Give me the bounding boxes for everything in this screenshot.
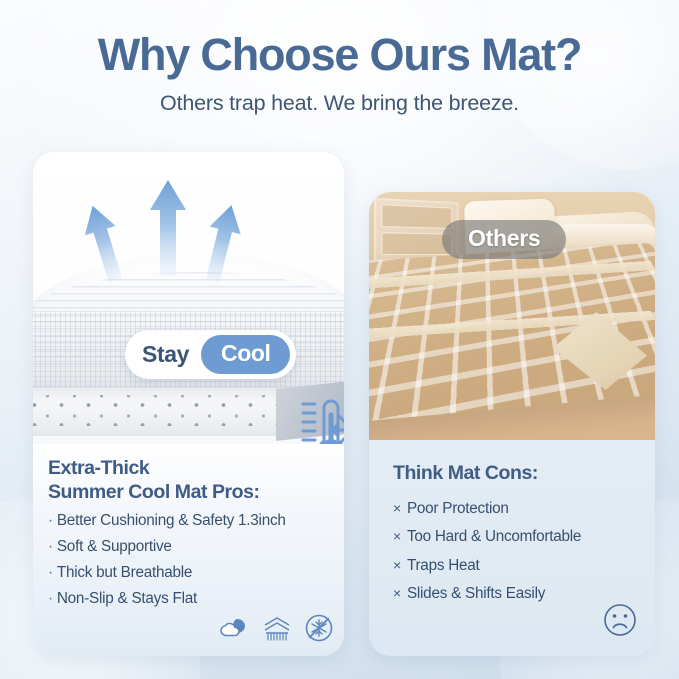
sad-face-icon [603, 603, 637, 642]
cons-heading: Think Mat Cons: [369, 440, 655, 485]
bullet-dot-icon: · [48, 512, 53, 529]
badge-word-cool: Cool [201, 335, 291, 374]
pros-heading: Extra-Thick Summer Cool Mat Pros: [33, 444, 344, 505]
comparison-infographic: Why Choose Ours Mat? Others trap heat. W… [0, 0, 679, 679]
list-item: ·Better Cushioning & Safety 1.3inch [48, 513, 344, 528]
cons-item-text: Traps Heat [407, 557, 480, 574]
header: Why Choose Ours Mat? Others trap heat. W… [0, 0, 679, 116]
badge-word-stay: Stay [142, 341, 189, 368]
cooling-mat-photo: Stay Cool [33, 152, 344, 444]
cons-text-block: Think Mat Cons: ×Poor Protection ×Too Ha… [369, 440, 655, 656]
pros-list: ·Better Cushioning & Safety 1.3inch ·Sof… [33, 513, 344, 607]
breathable-layers-icon [262, 615, 292, 648]
bullet-dot-icon: · [48, 590, 53, 607]
cross-mark-icon: × [393, 528, 401, 544]
list-item: ·Thick but Breathable [48, 565, 344, 580]
bullet-dot-icon: · [48, 538, 53, 555]
list-item: ×Traps Heat [393, 558, 655, 573]
list-item: ×Too Hard & Uncomfortable [393, 529, 655, 544]
quilted-mat-body [33, 254, 344, 404]
anti-mite-icon [304, 613, 334, 648]
cons-card: Others Think Mat Cons: ×Poor Protection … [369, 192, 655, 656]
list-item: ·Soft & Supportive [48, 539, 344, 554]
cons-list: ×Poor Protection ×Too Hard & Uncomfortab… [369, 501, 655, 601]
list-item: ·Non-Slip & Stays Flat [48, 591, 344, 606]
bullet-dot-icon: · [48, 564, 53, 581]
pros-card: Stay Cool Extra-Thick Summer Cool Mat Pr… [33, 152, 344, 656]
pros-text-block: Extra-Thick Summer Cool Mat Pros: ·Bette… [33, 444, 344, 656]
cross-mark-icon: × [393, 500, 401, 516]
drawer [381, 204, 452, 229]
cons-item-text: Poor Protection [407, 500, 509, 517]
pros-item-text: Non-Slip & Stays Flat [57, 590, 197, 607]
pros-item-text: Better Cushioning & Safety 1.3inch [57, 512, 286, 529]
cross-mark-icon: × [393, 585, 401, 601]
feature-icon-row [220, 613, 334, 648]
cons-item-text: Too Hard & Uncomfortable [407, 528, 581, 545]
page-title: Why Choose Ours Mat? [0, 0, 679, 79]
list-item: ×Slides & Shifts Easily [393, 586, 655, 601]
stay-cool-badge: Stay Cool [125, 330, 296, 379]
others-badge: Others [442, 220, 566, 259]
cross-mark-icon: × [393, 557, 401, 573]
pros-item-text: Thick but Breathable [57, 564, 192, 581]
pros-item-text: Soft & Supportive [57, 538, 172, 555]
pros-heading-line1: Extra-Thick [48, 457, 149, 479]
pros-heading-line2: Summer Cool Mat Pros: [48, 481, 260, 503]
others-badge-label: Others [468, 225, 540, 251]
cons-item-text: Slides & Shifts Easily [407, 585, 545, 602]
page-subtitle: Others trap heat. We bring the breeze. [0, 91, 679, 116]
others-mat-photo: Others [369, 192, 655, 440]
cool-cloud-icon [220, 615, 250, 648]
airflow-arrow-center [149, 180, 187, 276]
thermometer-snowflake-icon [291, 395, 344, 444]
list-item: ×Poor Protection [393, 501, 655, 516]
